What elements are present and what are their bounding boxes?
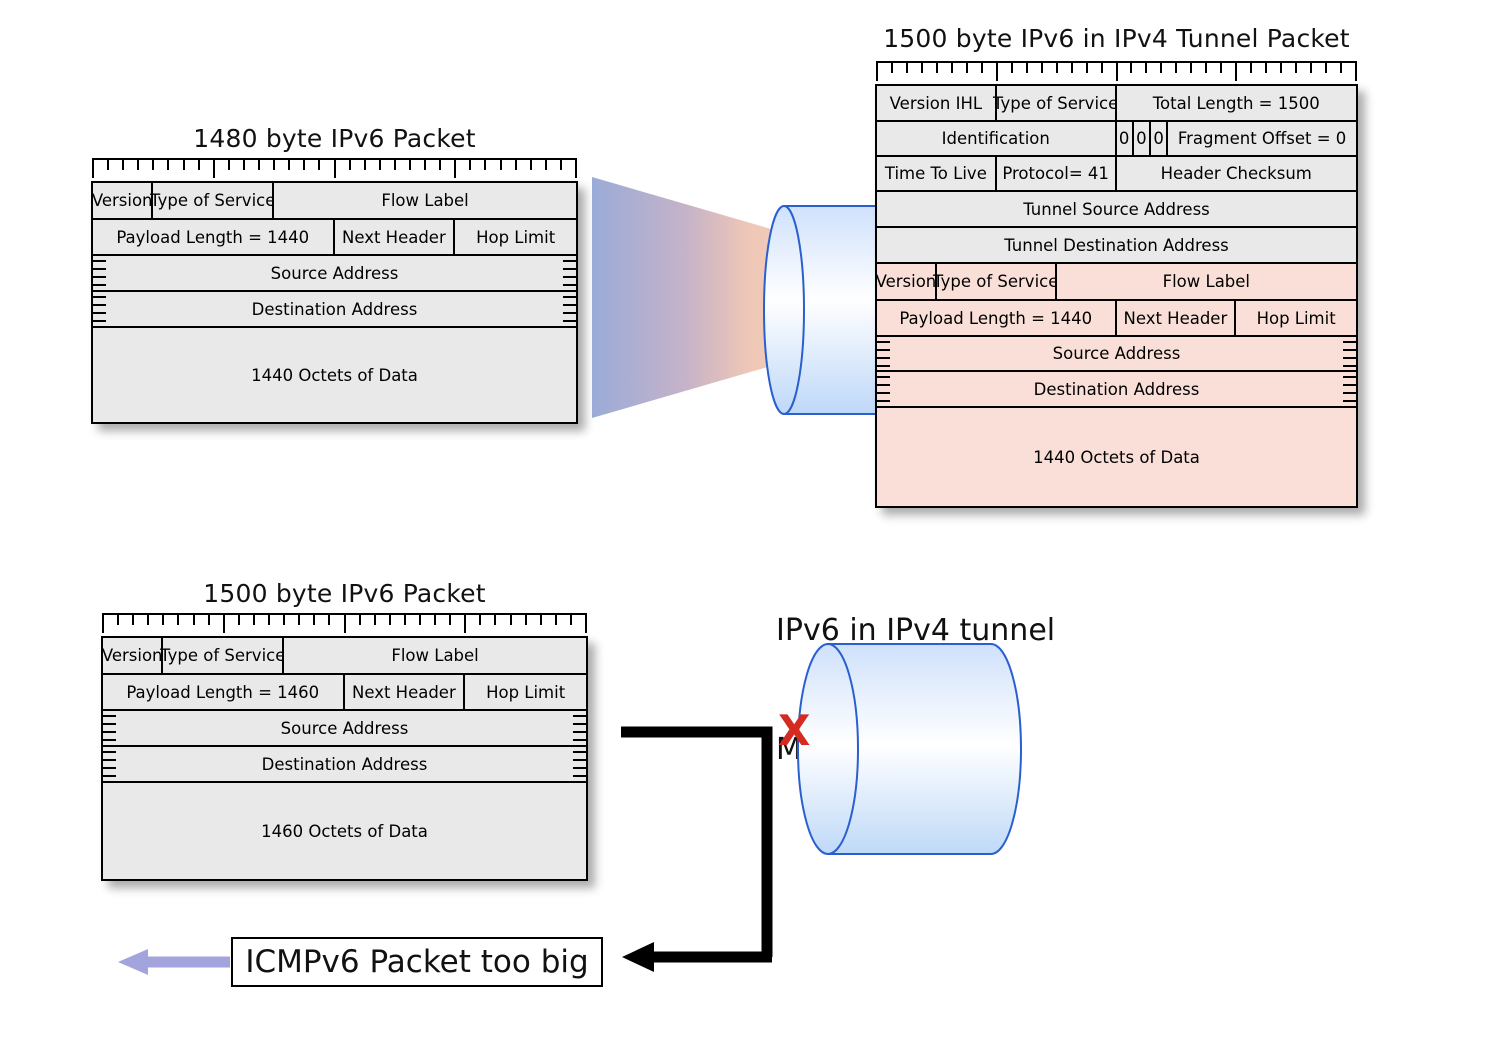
ruler-tick (951, 61, 953, 73)
tunnel-cylinder-bottom (795, 638, 1025, 860)
bit-ruler-1500 (102, 613, 587, 635)
ruler-tick (906, 61, 908, 73)
field-total-length: Total Length = 1500 (1117, 86, 1357, 120)
field-inner-next-header: Next Header (1117, 301, 1237, 335)
ruler-tick (258, 158, 260, 170)
ruler-tick (1056, 61, 1058, 73)
ruler-tick (298, 613, 300, 625)
ruler-tick (303, 158, 305, 170)
bit-ruler-1480 (92, 158, 577, 180)
packet-row: Tunnel Source Address (877, 192, 1356, 228)
field-version-ihl: Version IHL (877, 86, 997, 120)
packet-row: Tunnel Destination Address (877, 228, 1356, 264)
packet-title-1480: 1480 byte IPv6 Packet (91, 124, 578, 153)
ruler-tick (936, 61, 938, 73)
ruler-tick (117, 613, 119, 625)
ruler-tick (243, 158, 245, 170)
ruler-tick (122, 158, 124, 170)
field-inner-destination-address: Destination Address (877, 372, 1356, 406)
packet-1480-byte-ipv6: Version Type of Service Flow Label Paylo… (91, 181, 578, 424)
packet-row: 1440 Octets of Data (93, 328, 576, 422)
ruler-tick (454, 158, 456, 178)
field-hop-limit: Hop Limit (455, 220, 576, 254)
field-source-address: Source Address (93, 256, 576, 290)
packet-row: Version Type of Service Flow Label (93, 183, 576, 220)
ruler-tick (132, 613, 134, 625)
field-destination-address: Destination Address (103, 747, 586, 781)
ruler-tick (228, 158, 230, 170)
ruler-tick (183, 158, 185, 170)
ruler-tick (424, 158, 426, 170)
ruler-tick (152, 158, 154, 170)
bit-ruler-tunnel (876, 61, 1357, 83)
field-tunnel-source-address: Tunnel Source Address (877, 192, 1356, 226)
ruler-tick (996, 61, 998, 81)
ruler-tick (334, 158, 336, 178)
ruler-tick (92, 158, 94, 178)
field-data-payload: 1460 Octets of Data (103, 783, 586, 879)
ruler-tick (177, 613, 179, 625)
ruler-tick (921, 61, 923, 73)
ruler-tick (876, 61, 878, 81)
ruler-tick (1355, 61, 1357, 81)
field-fragment-offset: Fragment Offset = 0 (1168, 122, 1356, 155)
packet-row: Version Type of Service Flow Label (103, 638, 586, 675)
icmpv6-packet-too-big-box: ICMPv6 Packet too big (231, 937, 603, 987)
ruler-tick (1280, 61, 1282, 73)
ruler-tick (208, 613, 210, 625)
ruler-tick (469, 158, 471, 170)
field-next-header: Next Header (335, 220, 456, 254)
field-payload-length: Payload Length = 1440 (93, 220, 335, 254)
packet-title-tunnel: 1500 byte IPv6 in IPv4 Tunnel Packet (875, 24, 1358, 53)
ruler-tick (1101, 61, 1103, 73)
ruler-tick (1130, 61, 1132, 73)
field-data-payload: 1440 Octets of Data (93, 328, 576, 422)
packet-row: Payload Length = 1460 Next Header Hop Li… (103, 675, 586, 711)
ruler-tick (374, 613, 376, 625)
field-protocol: Protocol= 41 (997, 157, 1117, 190)
ruler-tick (1190, 61, 1192, 73)
ruler-tick (981, 61, 983, 73)
packet-row: Destination Address (93, 292, 576, 328)
ruler-tick (1116, 61, 1118, 81)
field-version: Version (93, 183, 153, 218)
field-inner-payload-length: Payload Length = 1440 (877, 301, 1117, 335)
field-next-header: Next Header (345, 675, 466, 709)
ruler-tick (137, 158, 139, 170)
field-flag-df: 0 (1134, 122, 1151, 155)
ruler-tick (313, 613, 315, 625)
ruler-tick (147, 613, 149, 625)
ruler-tick (273, 158, 275, 170)
ruler-tick (1026, 61, 1028, 73)
ruler-tick (891, 61, 893, 73)
ruler-tick (283, 613, 285, 625)
ruler-tick (1071, 61, 1073, 73)
ruler-tick (575, 158, 577, 178)
packet-row: Payload Length = 1440 Next Header Hop Li… (877, 301, 1356, 337)
field-identification: Identification (877, 122, 1117, 155)
ruler-tick (1145, 61, 1147, 73)
packet-row: Identification 0 0 0 Fragment Offset = 0 (877, 122, 1356, 157)
ruler-tick (540, 613, 542, 625)
ruler-tick (344, 613, 346, 633)
ruler-tick (1011, 61, 1013, 73)
ruler-tick (500, 158, 502, 170)
ruler-tick (268, 613, 270, 625)
ruler-tick (1041, 61, 1043, 73)
field-time-to-live: Time To Live (877, 157, 997, 190)
ruler-tick (1086, 61, 1088, 73)
ruler-tick (966, 61, 968, 73)
ruler-tick (404, 613, 406, 625)
tunnel-cylinder-top (762, 200, 882, 420)
ruler-tick (1310, 61, 1312, 73)
ruler-tick (102, 613, 104, 633)
ruler-tick (560, 158, 562, 170)
field-version: Version (103, 638, 163, 673)
ruler-tick (253, 613, 255, 625)
field-type-of-service: Type of Service (163, 638, 284, 673)
ruler-tick (1295, 61, 1297, 73)
packet-row: Version Type of Service Flow Label (877, 264, 1356, 301)
field-type-of-service: Type of Service (997, 86, 1117, 120)
ruler-tick (364, 158, 366, 170)
ruler-tick (434, 613, 436, 625)
field-inner-source-address: Source Address (877, 337, 1356, 370)
ruler-tick (449, 613, 451, 625)
ruler-tick (525, 613, 527, 625)
ruler-tick (419, 613, 421, 625)
field-inner-hop-limit: Hop Limit (1236, 301, 1356, 335)
packet-row: 1460 Octets of Data (103, 783, 586, 879)
ruler-tick (1205, 61, 1207, 73)
packet-row: Source Address (877, 337, 1356, 372)
ruler-tick (1235, 61, 1237, 81)
ruler-tick (162, 613, 164, 625)
field-inner-flow-label: Flow Label (1057, 264, 1356, 299)
ruler-tick (545, 158, 547, 170)
ruler-tick (1340, 61, 1342, 73)
icmp-return-connector (612, 720, 792, 980)
field-destination-address: Destination Address (93, 292, 576, 326)
field-flow-label: Flow Label (274, 183, 576, 218)
field-source-address: Source Address (103, 711, 586, 745)
field-tunnel-destination-address: Tunnel Destination Address (877, 228, 1356, 262)
packet-tunnel-ipv6-in-ipv4: Version IHL Type of Service Total Length… (875, 84, 1358, 508)
ruler-tick (238, 613, 240, 625)
ruler-tick (479, 613, 481, 625)
ruler-tick (1250, 61, 1252, 73)
packet-title-1500: 1500 byte IPv6 Packet (101, 579, 588, 608)
ruler-tick (570, 613, 572, 625)
packet-row: Version IHL Type of Service Total Length… (877, 86, 1356, 122)
ruler-tick (1325, 61, 1327, 73)
ruler-tick (1160, 61, 1162, 73)
ruler-tick (1175, 61, 1177, 73)
field-type-of-service: Type of Service (153, 183, 274, 218)
field-flow-label: Flow Label (284, 638, 586, 673)
field-flag-mf: 0 (1151, 122, 1168, 155)
ruler-tick (555, 613, 557, 625)
field-hop-limit: Hop Limit (465, 675, 586, 709)
packet-row: Source Address (93, 256, 576, 292)
field-flag-reserved: 0 (1117, 122, 1134, 155)
ruler-tick (439, 158, 441, 170)
packet-row: Time To Live Protocol= 41 Header Checksu… (877, 157, 1356, 192)
ruler-tick (530, 158, 532, 170)
ruler-tick (288, 158, 290, 170)
ruler-tick (223, 613, 225, 633)
ruler-tick (213, 158, 215, 178)
ruler-tick (494, 613, 496, 625)
ruler-tick (1265, 61, 1267, 73)
field-payload-length: Payload Length = 1460 (103, 675, 345, 709)
ruler-tick (389, 613, 391, 625)
ruler-tick (515, 158, 517, 170)
packet-row: Destination Address (103, 747, 586, 783)
ruler-tick (510, 613, 512, 625)
ruler-tick (328, 613, 330, 625)
return-path-arrow (110, 945, 230, 979)
field-inner-version: Version (877, 264, 937, 299)
ruler-tick (107, 158, 109, 170)
ruler-tick (409, 158, 411, 170)
ruler-tick (349, 158, 351, 170)
field-inner-type-of-service: Type of Service (937, 264, 1057, 299)
field-inner-data-payload: 1440 Octets of Data (877, 408, 1356, 506)
packet-row: Source Address (103, 711, 586, 747)
field-header-checksum: Header Checksum (1117, 157, 1357, 190)
packet-row: Payload Length = 1440 Next Header Hop Li… (93, 220, 576, 256)
ruler-tick (193, 613, 195, 625)
ruler-tick (464, 613, 466, 633)
ruler-tick (359, 613, 361, 625)
ruler-tick (379, 158, 381, 170)
ruler-tick (167, 158, 169, 170)
ruler-tick (198, 158, 200, 170)
ruler-tick (394, 158, 396, 170)
packet-row: Destination Address (877, 372, 1356, 408)
packet-row: 1440 Octets of Data (877, 408, 1356, 506)
ruler-tick (1220, 61, 1222, 73)
ruler-tick (585, 613, 587, 633)
packet-1500-byte-ipv6: Version Type of Service Flow Label Paylo… (101, 636, 588, 881)
ruler-tick (318, 158, 320, 170)
ruler-tick (484, 158, 486, 170)
